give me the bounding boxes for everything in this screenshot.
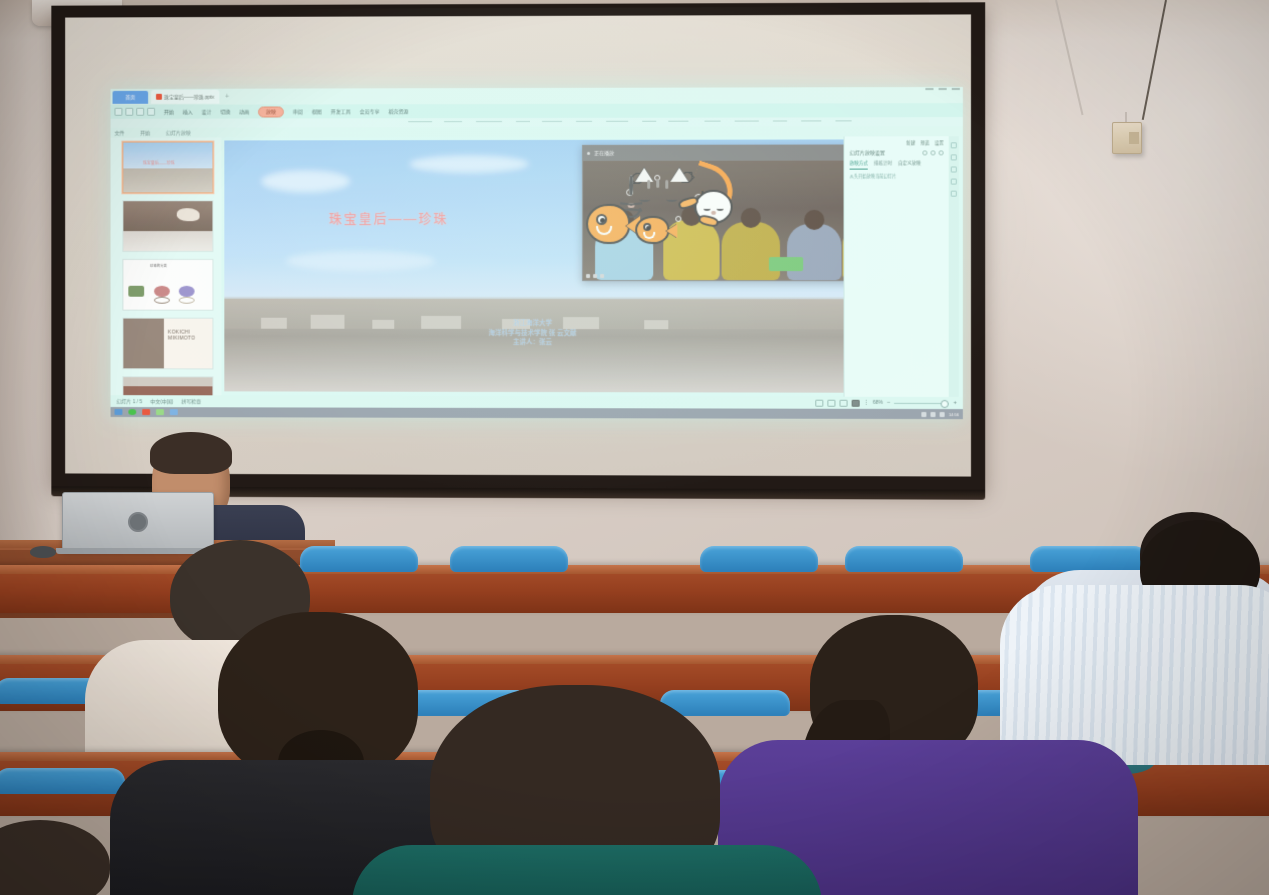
- video-app-icon: [587, 152, 590, 155]
- zoom-in-icon[interactable]: +: [953, 400, 957, 406]
- task-pane-tab-mode[interactable]: 放映方式: [850, 161, 868, 170]
- slide-title-text[interactable]: 珠宝皇后——珍珠: [329, 208, 449, 227]
- sticker-bubble-4: [676, 216, 682, 222]
- ribbon-tab-insert[interactable]: 插入: [183, 108, 193, 115]
- ribbon-tab-view[interactable]: 视图: [312, 108, 322, 115]
- subtitle-line-2: 海洋科学与技术学院 张 云文献: [488, 329, 576, 339]
- sticker-fish-large: [586, 204, 630, 244]
- minimize-icon[interactable]: [925, 88, 933, 90]
- window-icon[interactable]: [170, 409, 178, 415]
- rail-icon-4[interactable]: [951, 179, 957, 185]
- start-icon[interactable]: [115, 409, 123, 415]
- video-green-desk: [768, 257, 802, 271]
- shoreline-building-4: [421, 316, 461, 329]
- task-pane-header: 幻灯片放映设置: [850, 149, 944, 156]
- control-box-label: [1129, 132, 1139, 144]
- pin-icon[interactable]: [930, 150, 935, 155]
- grey-cat-stripe-2: [656, 179, 659, 188]
- network-icon[interactable]: [921, 411, 926, 416]
- thumbnail-3-image-a: [129, 286, 145, 297]
- fish-small-smile: [643, 232, 655, 239]
- status-spellcheck[interactable]: 拼写检查: [181, 398, 201, 405]
- sticker-orange-cat: [700, 192, 704, 210]
- fish-large-smile: [596, 226, 612, 235]
- pptx-file-icon: [156, 94, 162, 100]
- seat-r1-c: [700, 546, 818, 572]
- reading-view-icon[interactable]: [839, 399, 847, 406]
- ribbon-tab-slideshow[interactable]: 放映: [258, 106, 284, 117]
- wps-file-tab[interactable]: 珠宝皇后——珍珠.pptx: [151, 90, 219, 104]
- wall-control-box: [1112, 122, 1142, 154]
- video-player-title: 正在播放: [594, 150, 614, 157]
- subbar-item-file[interactable]: 文件: [115, 129, 125, 136]
- zoom-slider[interactable]: [895, 402, 950, 403]
- rail-icon-3[interactable]: [951, 166, 957, 172]
- task-pane-header-icons[interactable]: [922, 150, 943, 155]
- video-child-3: [722, 222, 780, 280]
- cloud-3: [286, 251, 435, 271]
- slideshow-icon[interactable]: [852, 399, 860, 406]
- subbar-item-slideshow[interactable]: 幻灯片放映: [166, 129, 191, 136]
- rail-icon-1[interactable]: [951, 142, 957, 148]
- thumbnail-3-image-e: [179, 297, 195, 304]
- ribbon-tab-transition[interactable]: 切换: [220, 108, 230, 115]
- seat-r3-a: [0, 768, 125, 794]
- zoom-out-icon[interactable]: −: [887, 400, 891, 406]
- volume-icon[interactable]: [930, 412, 935, 417]
- shoreline-building-2: [310, 315, 344, 329]
- thumbnail-3-image-b: [154, 286, 170, 297]
- fish-small-eye: [643, 223, 651, 231]
- task-pane-title: 幻灯片放映设置: [850, 149, 885, 156]
- seat-r1-b: [450, 546, 568, 572]
- normal-view-icon[interactable]: [815, 399, 823, 406]
- fullscreen-icon[interactable]: [600, 274, 604, 278]
- thumbnail-3-image-d: [154, 297, 170, 304]
- shoreline-building-7: [644, 320, 668, 329]
- projected-desktop: 首页 珠宝皇后——珍珠.pptx +: [111, 87, 963, 419]
- orange-cat-eye-right: [716, 206, 723, 211]
- projection-screen-surface: 首页 珠宝皇后——珍珠.pptx +: [65, 14, 971, 476]
- cloud-2: [409, 155, 529, 173]
- slide-editing-canvas[interactable]: 珠宝皇后——珍珠 浙江海洋大学 海洋科学与技术学院 张 云文献 主讲人：: [224, 139, 843, 392]
- video-player-controls[interactable]: [586, 274, 604, 278]
- fish-small-pupil: [647, 226, 651, 230]
- print-icon[interactable]: [147, 108, 155, 116]
- person-5-shoulders: [1000, 585, 1269, 765]
- ribbon-tab-member[interactable]: 会员专享: [360, 108, 380, 115]
- presenter-hair: [150, 432, 232, 474]
- task-pane-chip-preview[interactable]: 预览: [920, 140, 929, 146]
- shoreline-building-1: [261, 318, 287, 329]
- lecture-hall-photo: 首页 珠宝皇后——珍珠.pptx +: [0, 0, 1269, 895]
- seat-r1-d: [845, 546, 963, 572]
- quick-access-toolbar[interactable]: [115, 108, 156, 116]
- slide-thumbnail-5[interactable]: 5: [122, 376, 213, 395]
- grey-cat-stripe-1: [647, 180, 650, 189]
- wps-file-name: 珠宝皇后——珍珠.pptx: [164, 93, 214, 100]
- person-3-shoulders: [352, 845, 822, 895]
- fit-to-window-icon[interactable]: ⋮: [864, 400, 869, 406]
- fish-small-tail: [667, 224, 678, 238]
- task-pane-note: 从头开始放映当前幻灯片: [850, 174, 944, 181]
- task-pane-chip-new[interactable]: 新建: [906, 140, 915, 146]
- os-taskbar[interactable]: 14:56: [111, 407, 963, 419]
- sticker-grey-cat-face: [629, 177, 633, 195]
- shoreline-building-3: [372, 320, 394, 329]
- grey-cat-ear-left: [635, 168, 653, 182]
- rail-icon-5[interactable]: [951, 191, 957, 197]
- slide-thumbnail-4[interactable]: 4 KOKICHI MIKIMOTO: [122, 318, 213, 370]
- video-content-area[interactable]: [583, 160, 843, 280]
- computer-mouse: [30, 546, 56, 558]
- subtitle-line-3: 主讲人：张云: [488, 338, 576, 348]
- task-pane-tab-custom[interactable]: 自定义放映: [898, 160, 921, 169]
- help-icon[interactable]: [922, 150, 927, 155]
- wps-titlebar: 首页 珠宝皇后——珍珠.pptx +: [111, 87, 963, 105]
- ribbon-tab-resources[interactable]: 稻壳资源: [388, 108, 408, 115]
- new-tab-button[interactable]: +: [225, 93, 229, 100]
- slide-subtitle-text[interactable]: 浙江海洋大学 海洋科学与技术学院 张 云文献 主讲人：张云: [488, 319, 576, 348]
- seat-r1-e: [1030, 546, 1148, 572]
- wps-secondary-bar: 文件 开始 幻灯片放映: [111, 126, 963, 137]
- subbar-item-start[interactable]: 开始: [140, 129, 150, 136]
- ribbon-tab-developer[interactable]: 开发工具: [331, 108, 351, 115]
- video-player-window[interactable]: 正在播放: [582, 144, 843, 281]
- status-slide-counter: 幻灯片 1 / 5: [116, 398, 142, 405]
- subtitle-line-1: 浙江海洋大学: [488, 319, 576, 329]
- redo-icon[interactable]: [136, 108, 144, 116]
- laptop-brand-logo: [128, 512, 148, 532]
- slide-thumbnail-2[interactable]: 2: [122, 200, 213, 252]
- slide-thumbnail-1[interactable]: 1 珠宝皇后——珍珠: [122, 141, 213, 193]
- ribbon-tab-animation[interactable]: 动画: [239, 108, 249, 115]
- status-language[interactable]: 中文(中国): [150, 398, 173, 405]
- play-icon[interactable]: [586, 274, 590, 278]
- thumbnail-3-image-c: [179, 286, 195, 297]
- video-child-4: [787, 224, 841, 280]
- slide-thumbnail-panel[interactable]: 1 珠宝皇后——珍珠 2 3 珍珠的分类: [111, 137, 222, 395]
- view-mode-buttons[interactable]: ⋮ 68% − +: [815, 399, 957, 406]
- save-icon[interactable]: [115, 108, 123, 116]
- close-icon[interactable]: [939, 150, 944, 155]
- orange-cat-eye-left: [703, 206, 710, 211]
- battery-icon[interactable]: [940, 412, 945, 417]
- task-pane-side-rail[interactable]: [949, 136, 959, 397]
- ribbon-tab-design[interactable]: 设计: [202, 108, 212, 115]
- child-4-head: [804, 210, 824, 230]
- child-3-head: [741, 208, 761, 228]
- slide-thumbnail-3[interactable]: 3 珍珠的分类: [122, 259, 213, 311]
- sorter-view-icon[interactable]: [827, 399, 835, 406]
- undo-icon[interactable]: [125, 108, 133, 116]
- task-pane-tabs[interactable]: 放映方式 排练计时 自定义放映: [850, 160, 944, 169]
- folder-icon[interactable]: [156, 409, 164, 415]
- person-0-head: [0, 820, 110, 895]
- fish-large-eye: [596, 214, 607, 225]
- task-pane-chip-settings[interactable]: 设置: [935, 140, 944, 146]
- seat-r1-a: [300, 546, 418, 572]
- thumbnail-4-title: KOKICHI MIKIMOTO: [168, 330, 213, 342]
- grey-cat-ear-right: [670, 168, 688, 182]
- thumbnail-3-title: 珍珠的分类: [150, 263, 167, 268]
- grey-cat-face-shape: [629, 175, 633, 196]
- rail-icon-2[interactable]: [951, 154, 957, 160]
- wps-icon[interactable]: [142, 409, 150, 415]
- ribbon-tab-review[interactable]: 审阅: [293, 108, 303, 115]
- ribbon-tab-start[interactable]: 开始: [164, 108, 174, 115]
- orange-cat-nose: [711, 211, 716, 215]
- wechat-icon[interactable]: [128, 409, 136, 415]
- grey-cat-stripe-3: [665, 180, 668, 189]
- video-player-titlebar[interactable]: 正在播放: [583, 145, 843, 160]
- volume-icon[interactable]: [593, 274, 597, 278]
- window-controls[interactable]: [925, 88, 959, 90]
- close-icon[interactable]: [952, 88, 960, 90]
- presenter-laptop: [62, 492, 214, 550]
- thumbnail-1-title: 珠宝皇后——珍珠: [143, 160, 175, 166]
- fish-large-pupil: [600, 218, 605, 223]
- status-zoom-level[interactable]: 68%: [873, 400, 883, 406]
- cloud-1: [261, 170, 350, 192]
- projection-screen-frame: 首页 珠宝皇后——珍珠.pptx +: [51, 2, 985, 490]
- taskbar-clock[interactable]: 14:56: [949, 412, 959, 417]
- task-pane-top-chips[interactable]: 新建 预览 设置: [850, 140, 944, 146]
- system-tray[interactable]: 14:56: [921, 411, 958, 416]
- slideshow-task-pane[interactable]: 新建 预览 设置 幻灯片放映设置 放映方式 排练计: [844, 136, 949, 397]
- maximize-icon[interactable]: [939, 88, 947, 90]
- sticker-fish-small: [635, 216, 669, 244]
- wps-home-tab[interactable]: 首页: [113, 90, 149, 103]
- grey-cat-eye-right: [666, 197, 677, 202]
- task-pane-tab-rehearse[interactable]: 排练计时: [874, 161, 892, 170]
